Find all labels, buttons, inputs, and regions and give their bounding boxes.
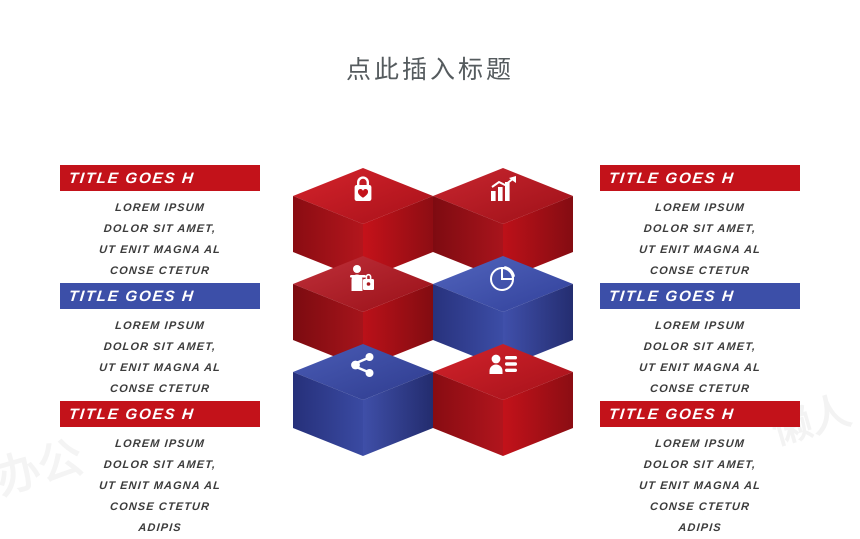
text-block: TITLE GOES H LOREM IPSUM DOLOR SIT AMET,…: [600, 401, 800, 539]
body-line: CONSE CTETUR: [59, 497, 261, 518]
body-line-hidden: CONSE CTETUR: [599, 261, 801, 282]
banner-label: TITLE GOES H: [600, 170, 736, 187]
section-banner-red[interactable]: TITLE GOES H: [600, 401, 800, 427]
body-line-hidden: CONSE CTETUR: [599, 379, 801, 400]
box-stack-left: [293, 168, 433, 432]
body-line: UT ENIT MAGNA AL: [599, 476, 801, 497]
body-line: UT ENIT MAGNA AL: [59, 476, 261, 497]
body-line: UT ENIT MAGNA AL: [59, 358, 261, 379]
section-banner-red[interactable]: TITLE GOES H: [60, 165, 260, 191]
body-line: LOREM IPSUM: [599, 316, 801, 337]
banner-label: TITLE GOES H: [60, 170, 196, 187]
body-line: LOREM IPSUM: [59, 316, 261, 337]
section-banner-red[interactable]: TITLE GOES H: [600, 165, 800, 191]
right-text-column: TITLE GOES H LOREM IPSUM DOLOR SIT AMET,…: [600, 165, 800, 539]
cube-side-faces: [293, 372, 433, 456]
body-line: DOLOR SIT AMET,: [599, 219, 801, 240]
section-banner-red[interactable]: TITLE GOES H: [60, 401, 260, 427]
body-lines: LOREM IPSUM DOLOR SIT AMET, UT ENIT MAGN…: [600, 427, 800, 539]
body-line: UT ENIT MAGNA AL: [59, 240, 261, 261]
box-share-nodes[interactable]: [293, 344, 433, 456]
body-line: DOLOR SIT AMET,: [599, 337, 801, 358]
body-line: LOREM IPSUM: [599, 434, 801, 455]
body-line: CONSE CTETUR: [599, 497, 801, 518]
section-banner-blue[interactable]: TITLE GOES H: [60, 283, 260, 309]
body-line: ADIPIS: [59, 518, 261, 539]
body-line-hidden: CONSE CTETUR: [59, 261, 261, 282]
body-line: LOREM IPSUM: [59, 198, 261, 219]
section-banner-blue[interactable]: TITLE GOES H: [600, 283, 800, 309]
banner-label: TITLE GOES H: [600, 288, 736, 305]
box-stack-right: [433, 168, 573, 432]
page-title: 点此插入标题: [0, 50, 860, 86]
banner-label: TITLE GOES H: [60, 288, 196, 305]
body-line: DOLOR SIT AMET,: [59, 219, 261, 240]
box-contact-card[interactable]: [433, 344, 573, 456]
body-line: LOREM IPSUM: [599, 198, 801, 219]
body-line-hidden: CONSE CTETUR: [59, 379, 261, 400]
body-line: DOLOR SIT AMET,: [59, 455, 261, 476]
banner-label: TITLE GOES H: [60, 406, 196, 423]
body-line: DOLOR SIT AMET,: [59, 337, 261, 358]
cube-side-faces: [433, 372, 573, 456]
left-text-column: TITLE GOES H LOREM IPSUM DOLOR SIT AMET,…: [60, 165, 260, 539]
body-lines: LOREM IPSUM DOLOR SIT AMET, UT ENIT MAGN…: [60, 427, 260, 539]
body-line: LOREM IPSUM: [59, 434, 261, 455]
body-line: UT ENIT MAGNA AL: [599, 240, 801, 261]
banner-label: TITLE GOES H: [600, 406, 736, 423]
body-line: ADIPIS: [599, 518, 801, 539]
text-block: TITLE GOES H LOREM IPSUM DOLOR SIT AMET,…: [60, 401, 260, 539]
body-line: DOLOR SIT AMET,: [599, 455, 801, 476]
body-line: UT ENIT MAGNA AL: [599, 358, 801, 379]
